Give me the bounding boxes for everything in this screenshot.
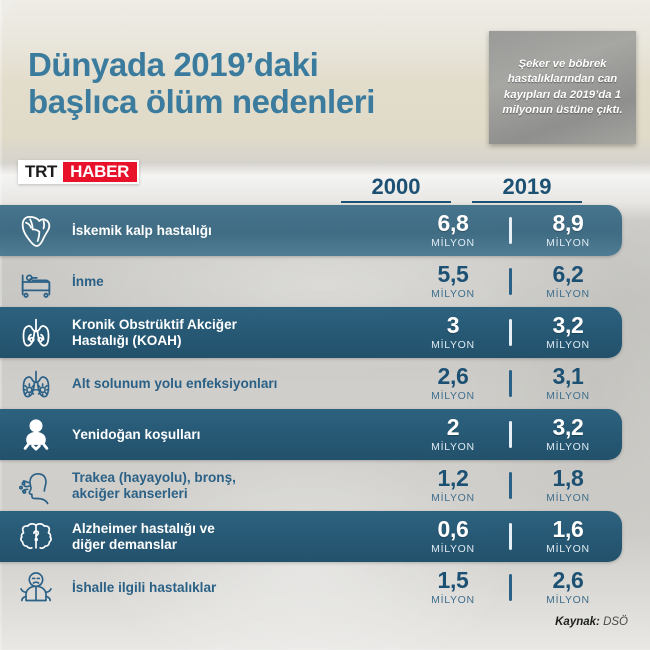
trt-haber-logo: TRT HABER <box>18 160 139 184</box>
table-row: İshalle ilgili hastalıklar 1,5 MİLYON 2,… <box>0 562 650 613</box>
value-2019-unit: MİLYON <box>546 442 590 453</box>
row-label-line1: Kronik Obstrüktif Akciğer <box>72 317 389 333</box>
page-title-line1: Dünyada 2019’daki <box>28 46 458 83</box>
table-row: Alt solunum yolu enfeksiyonları 2,6 MİLY… <box>0 358 650 409</box>
row-label-line2: akciğer kanserleri <box>72 486 389 502</box>
row-label: İshalle ilgili hastalıklar <box>72 580 397 596</box>
value-2019: 3,1 MİLYON <box>512 365 624 402</box>
coughing-person-icon <box>0 466 72 506</box>
source-value: DSÖ <box>603 616 628 628</box>
row-label-line1: Alzheimer hastalığı ve <box>72 521 389 537</box>
value-2019: 2,6 MİLYON <box>512 569 624 606</box>
row-label: Alt solunum yolu enfeksiyonları <box>72 376 397 392</box>
value-2000-number: 6,8 <box>437 212 468 235</box>
page-title: Dünyada 2019’daki başlıca ölüm nedenleri <box>28 46 458 120</box>
value-2000-number: 1,2 <box>437 467 468 490</box>
row-label: Alzheimer hastalığı ve diğer demanslar <box>72 521 397 553</box>
value-2019: 1,6 MİLYON <box>512 518 624 555</box>
value-2000: 1,5 MİLYON <box>397 569 509 606</box>
value-2000-unit: MİLYON <box>431 289 475 300</box>
row-label-line1: İshalle ilgili hastalıklar <box>72 580 389 596</box>
value-2019-number: 3,2 <box>552 416 583 439</box>
row-label-line1: İskemik kalp hastalığı <box>72 223 389 239</box>
value-2000-unit: MİLYON <box>431 595 475 606</box>
value-2000: 1,2 MİLYON <box>397 467 509 504</box>
value-2019-unit: MİLYON <box>546 493 590 504</box>
value-2000: 3 MİLYON <box>397 314 509 351</box>
value-2019-unit: MİLYON <box>546 238 590 249</box>
value-2019-number: 2,6 <box>552 569 583 592</box>
table-row: Kronik Obstrüktif Akciğer Hastalığı (KOA… <box>0 307 650 358</box>
logo-haber-text: HABER <box>63 160 139 184</box>
row-label-line2: Hastalığı (KOAH) <box>72 333 389 349</box>
value-2019-unit: MİLYON <box>546 391 590 402</box>
table-row: İnme 5,5 MİLYON 6,2 MİLYON <box>0 256 650 307</box>
row-label-line2: diğer demanslar <box>72 537 389 553</box>
causes-of-death-table: İskemik kalp hastalığı 6,8 MİLYON 8,9 Mİ… <box>0 205 650 613</box>
hospital-bed-icon <box>0 262 72 302</box>
row-label: Trakea (hayayolu), bronş, akciğer kanser… <box>72 470 397 502</box>
value-2000-number: 5,5 <box>437 263 468 286</box>
value-2000-unit: MİLYON <box>431 442 475 453</box>
column-header-2000: 2000 <box>341 174 451 203</box>
row-label: İskemik kalp hastalığı <box>72 223 397 239</box>
source-attribution: Kaynak: DSÖ <box>555 616 628 628</box>
row-label-line1: İnme <box>72 274 389 290</box>
value-2000-unit: MİLYON <box>431 391 475 402</box>
sick-person-icon <box>0 568 72 608</box>
value-2019-unit: MİLYON <box>546 544 590 555</box>
value-2000-number: 3 <box>447 314 460 337</box>
value-2019: 3,2 MİLYON <box>512 314 624 351</box>
value-2000-unit: MİLYON <box>431 340 475 351</box>
infographic-poster: Dünyada 2019’daki başlıca ölüm nedenleri… <box>0 0 650 650</box>
value-2000-number: 2,6 <box>437 365 468 388</box>
table-row: Yenidoğan koşulları 2 MİLYON 3,2 MİLYON <box>0 409 650 460</box>
value-2000-unit: MİLYON <box>431 238 475 249</box>
column-header-2019: 2019 <box>472 174 582 203</box>
table-row: İskemik kalp hastalığı 6,8 MİLYON 8,9 Mİ… <box>0 205 650 256</box>
highlight-note-box: Şeker ve böbrek hastalıklarından can kay… <box>489 31 636 144</box>
heart-icon <box>0 211 72 251</box>
baby-icon <box>0 415 72 455</box>
value-2019-number: 1,8 <box>552 467 583 490</box>
value-2000-number: 2 <box>447 416 460 439</box>
value-2019: 6,2 MİLYON <box>512 263 624 300</box>
value-2000-unit: MİLYON <box>431 544 475 555</box>
value-2019-number: 8,9 <box>552 212 583 235</box>
highlight-note-text: Şeker ve böbrek hastalıklarından can kay… <box>497 57 628 119</box>
value-2019-number: 6,2 <box>552 263 583 286</box>
value-2000-number: 0,6 <box>437 518 468 541</box>
value-2019-unit: MİLYON <box>546 289 590 300</box>
page-title-line2: başlıca ölüm nedenleri <box>28 83 458 120</box>
brain-question-icon <box>0 517 72 557</box>
value-2000-unit: MİLYON <box>431 493 475 504</box>
value-2000: 5,5 MİLYON <box>397 263 509 300</box>
row-label: Yenidoğan koşulları <box>72 427 397 443</box>
value-2000: 6,8 MİLYON <box>397 212 509 249</box>
value-2000: 2 MİLYON <box>397 416 509 453</box>
row-label: Kronik Obstrüktif Akciğer Hastalığı (KOA… <box>72 317 397 349</box>
row-label: İnme <box>72 274 397 290</box>
value-2019-number: 3,1 <box>552 365 583 388</box>
table-row: Trakea (hayayolu), bronş, akciğer kanser… <box>0 460 650 511</box>
lungs-icon <box>0 313 72 353</box>
value-2019: 1,8 MİLYON <box>512 467 624 504</box>
value-2019-number: 1,6 <box>552 518 583 541</box>
infected-lungs-icon <box>0 364 72 404</box>
value-2019: 8,9 MİLYON <box>512 212 624 249</box>
value-2000: 2,6 MİLYON <box>397 365 509 402</box>
logo-trt-text: TRT <box>18 160 63 184</box>
table-row: Alzheimer hastalığı ve diğer demanslar 0… <box>0 511 650 562</box>
value-2019-number: 3,2 <box>552 314 583 337</box>
row-label-line1: Yenidoğan koşulları <box>72 427 389 443</box>
row-label-line1: Trakea (hayayolu), bronş, <box>72 470 389 486</box>
value-2000: 0,6 MİLYON <box>397 518 509 555</box>
row-label-line1: Alt solunum yolu enfeksiyonları <box>72 376 389 392</box>
value-2019-unit: MİLYON <box>546 340 590 351</box>
value-2000-number: 1,5 <box>437 569 468 592</box>
value-2019: 3,2 MİLYON <box>512 416 624 453</box>
source-label: Kaynak: <box>555 616 600 628</box>
value-2019-unit: MİLYON <box>546 595 590 606</box>
